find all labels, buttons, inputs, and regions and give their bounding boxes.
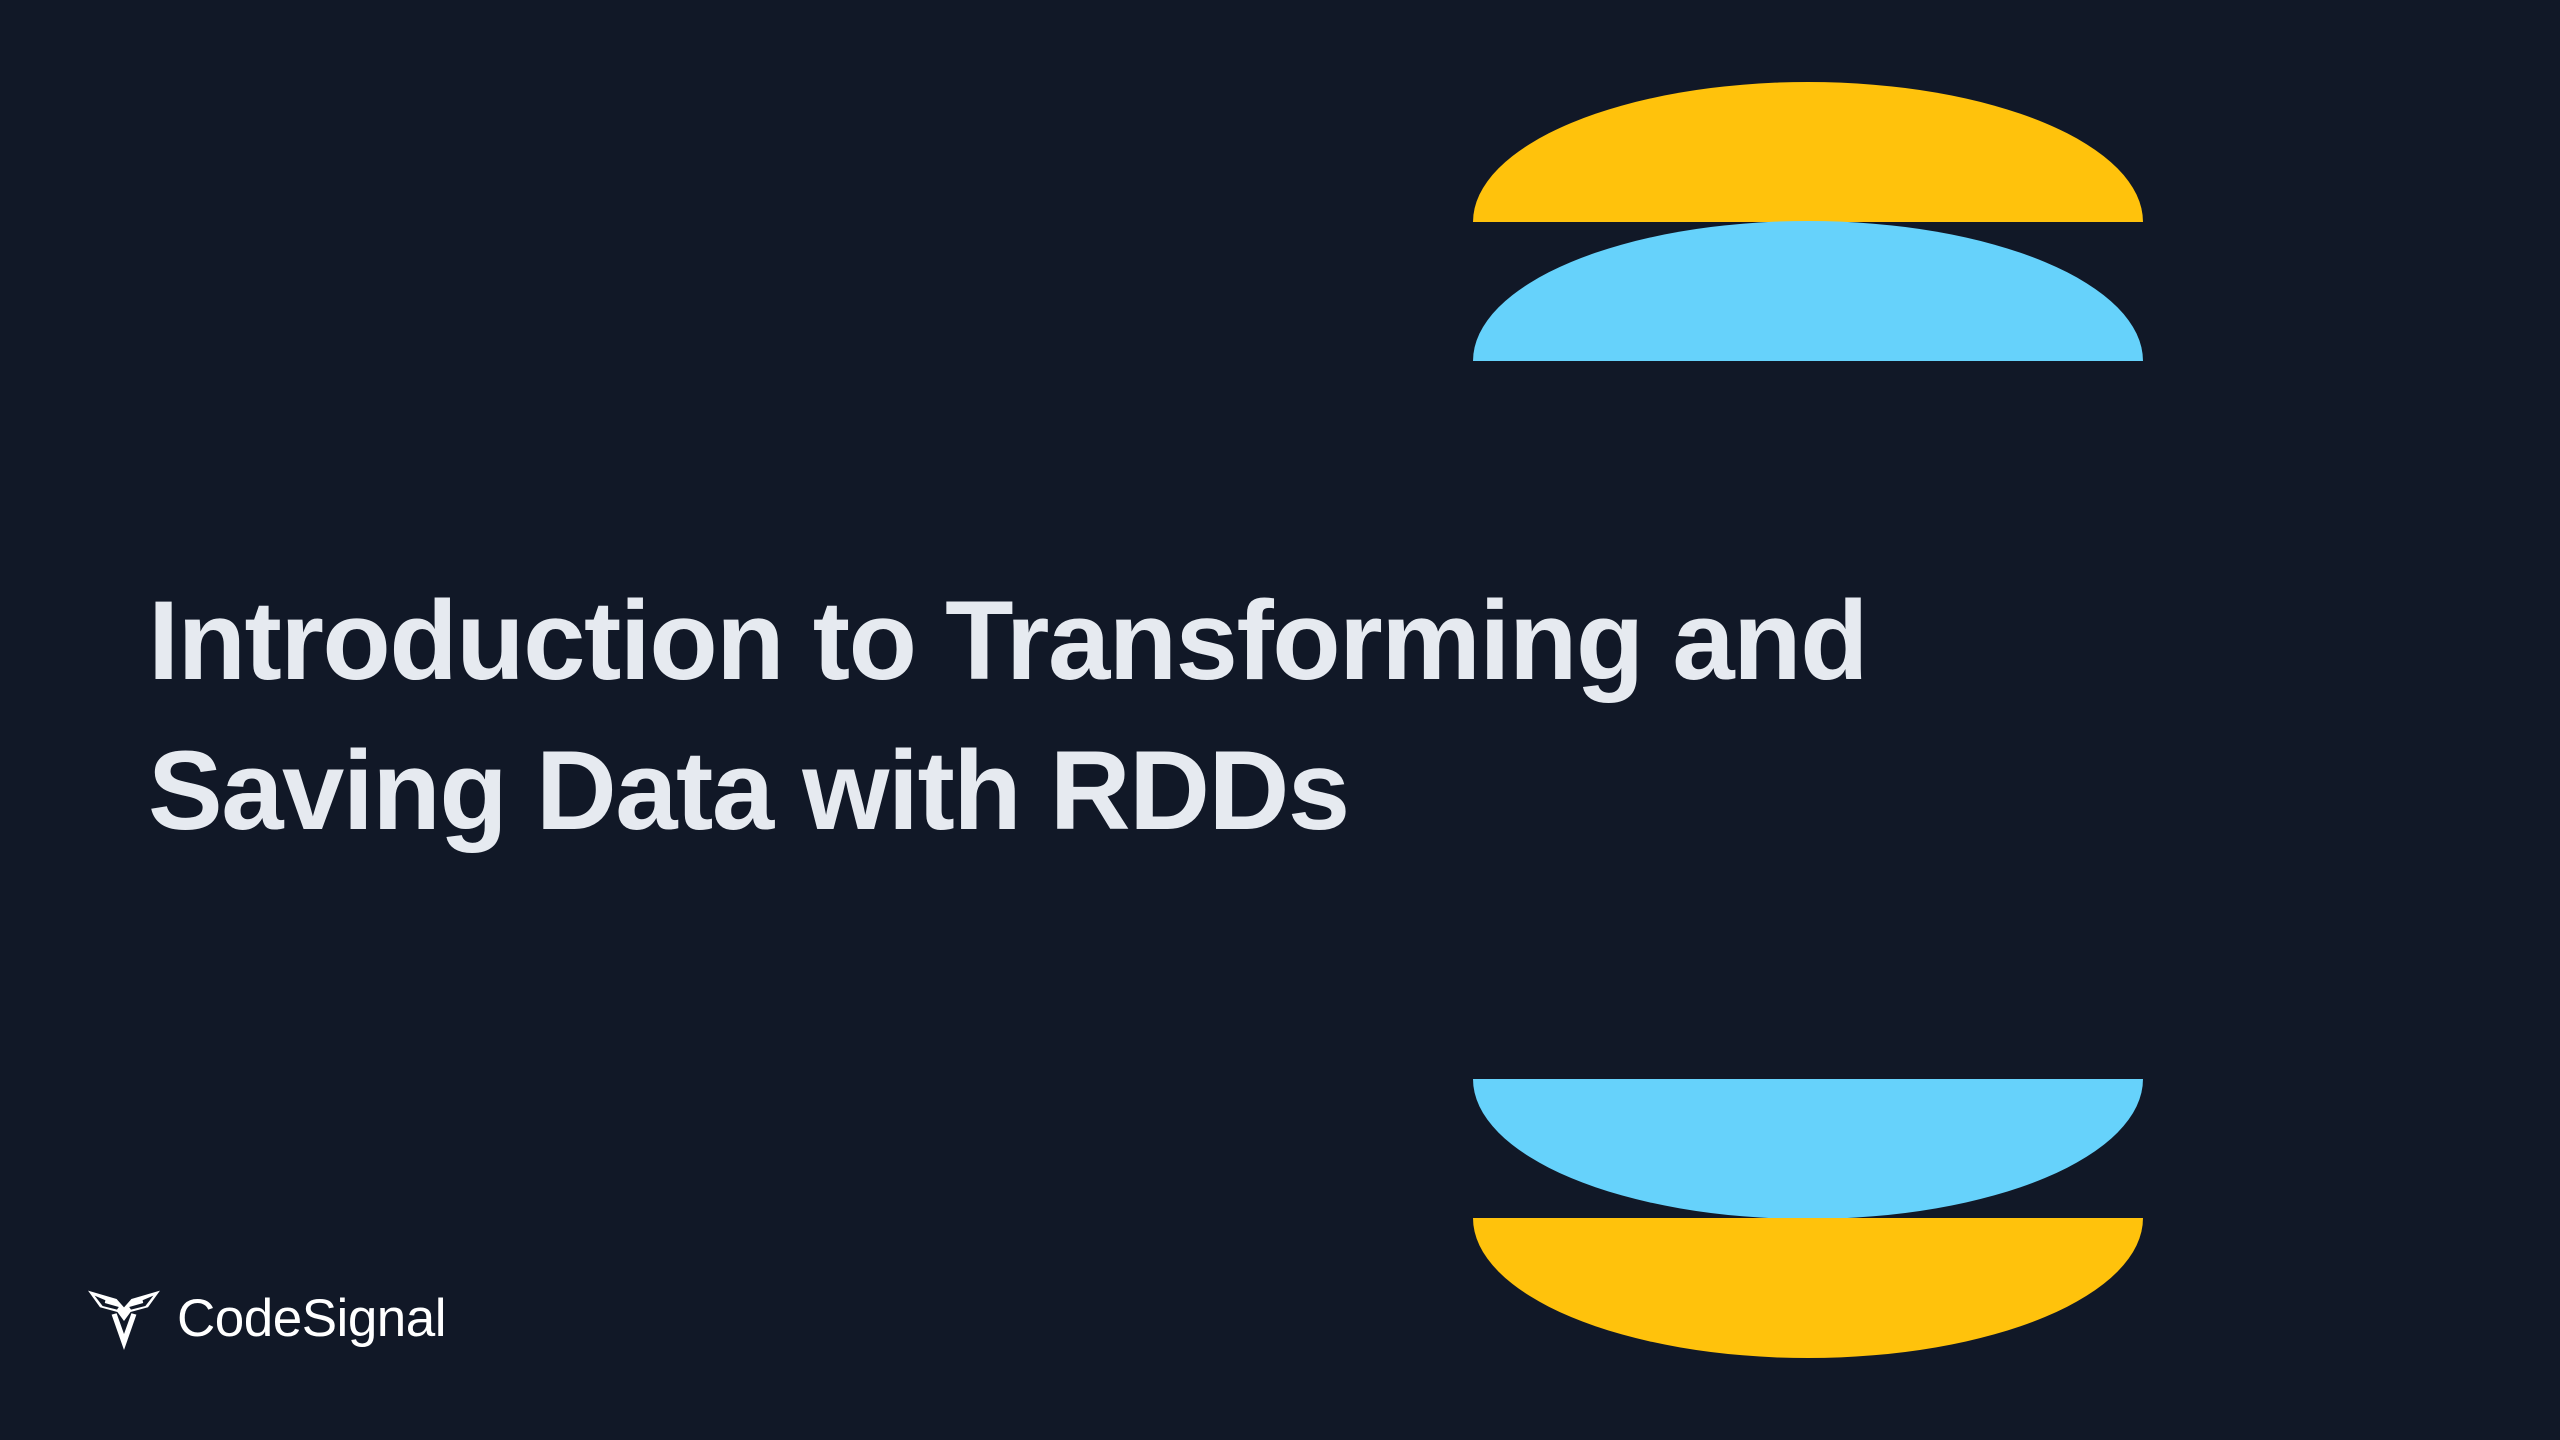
blue-bowl-shape — [1473, 1079, 2143, 1219]
yellow-bowl-shape — [1473, 1218, 2143, 1358]
yellow-dome-fill — [1473, 82, 2143, 222]
codesignal-wordmark: CodeSignal — [177, 1291, 446, 1347]
bottom-right-arc-group — [1473, 1079, 2143, 1359]
codesignal-logo: CodeSignal — [88, 1286, 446, 1352]
slide-canvas: Introduction to Transforming and Saving … — [0, 0, 2560, 1440]
codesignal-wing-mark — [88, 1288, 160, 1350]
yellow-bowl-fill — [1473, 1218, 2143, 1358]
yellow-dome-shape — [1473, 82, 2143, 222]
slide-title: Introduction to Transforming and Saving … — [148, 566, 2208, 866]
top-right-arc-group — [1473, 82, 2143, 359]
blue-dome-shape — [1473, 221, 2143, 361]
title-block: Introduction to Transforming and Saving … — [148, 566, 2208, 866]
blue-bowl-fill — [1473, 1079, 2143, 1219]
blue-dome-fill — [1473, 221, 2143, 361]
